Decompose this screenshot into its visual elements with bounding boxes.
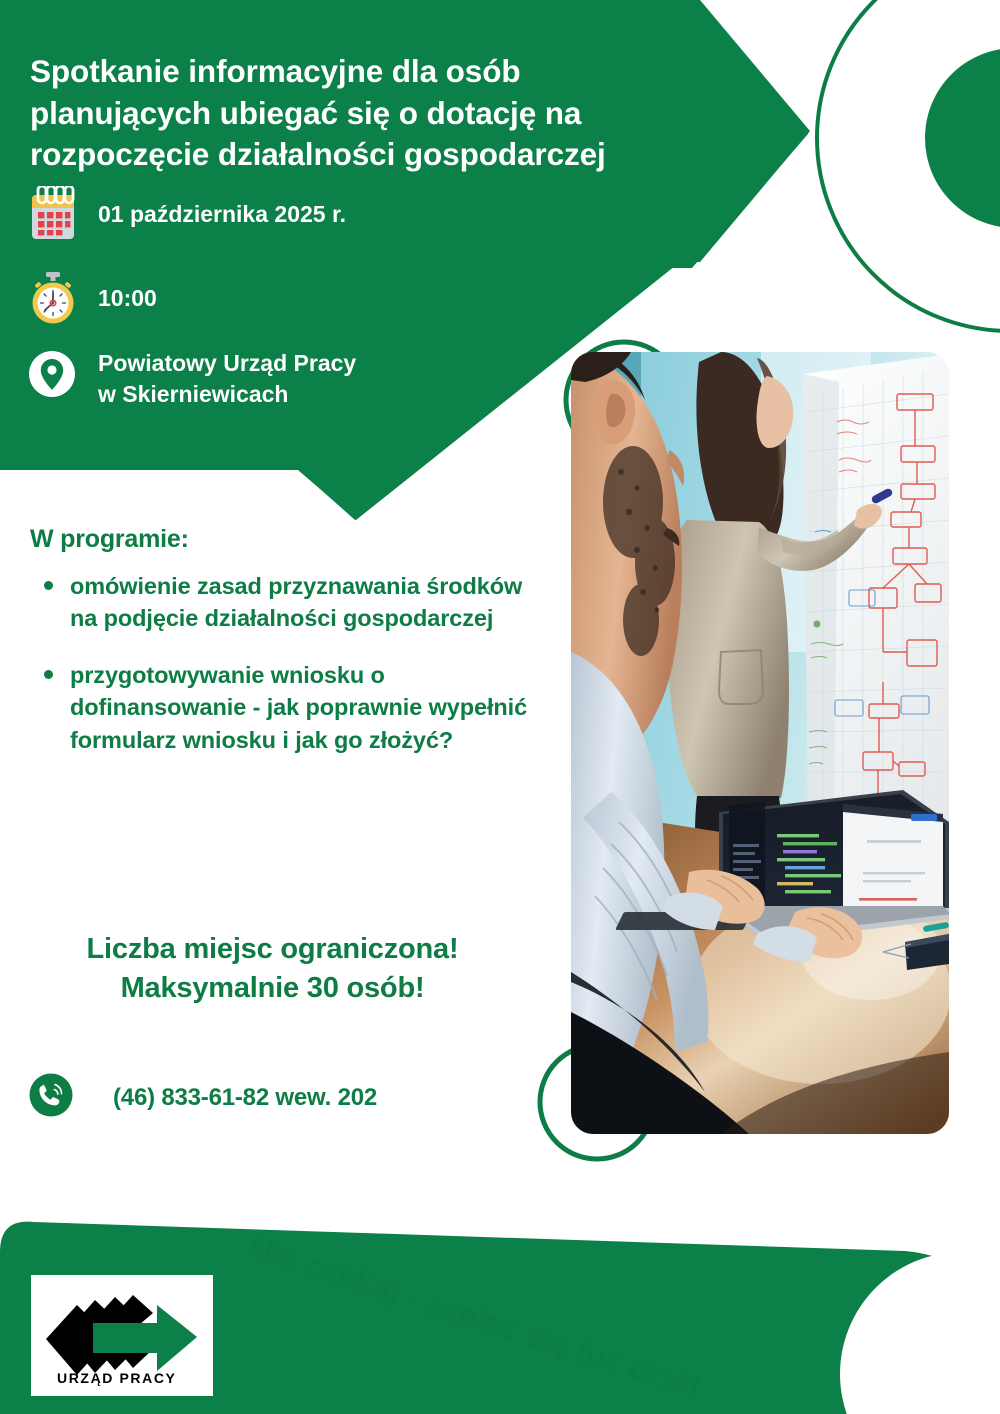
location-pin-icon <box>28 343 84 405</box>
bullet-dot-icon <box>44 670 53 679</box>
program-item-text: przygotowywanie wniosku o dofinansowanie… <box>70 662 527 753</box>
program-item: omówienie zasad przyznawania środków na … <box>70 570 540 635</box>
event-date-text: 01 października 2025 r. <box>84 183 346 230</box>
event-place-text: Powiatowy Urząd Pracy w Skierniewicach <box>84 343 356 410</box>
contact-row: (46) 833-61-82 wew. 202 <box>28 1072 377 1123</box>
event-place-row: Powiatowy Urząd Pracy w Skierniewicach <box>28 343 528 410</box>
event-details: 01 października 2025 r. <box>28 183 528 432</box>
event-date-row: 01 października 2025 r. <box>28 183 528 245</box>
program-item-text: omówienie zasad przyznawania środków na … <box>70 573 522 631</box>
calendar-icon <box>28 183 84 245</box>
phone-ring-icon <box>28 1072 74 1123</box>
program-list: omówienie zasad przyznawania środków na … <box>30 570 540 756</box>
urzad-pracy-logo: URZĄD PRACY <box>31 1275 213 1396</box>
program-item: przygotowywanie wniosku o dofinansowanie… <box>70 659 540 756</box>
logo-caption: URZĄD PRACY <box>57 1370 177 1386</box>
page-title: Spotkanie informacyjne dla osób planując… <box>30 51 680 176</box>
poster-root: Spotkanie informacyjne dla osób planując… <box>0 0 1000 1414</box>
program-heading: W programie: <box>30 525 540 554</box>
notch-bottom-right <box>840 1252 1000 1414</box>
footer-tagline: Nie czekaj - zapisz się już dziś! <box>244 1228 706 1406</box>
program-section: W programie: omówienie zasad przyznawani… <box>30 525 540 780</box>
event-time-row: 10:00 <box>28 267 528 329</box>
limited-seats-notice: Liczba miejsc ograniczona! Maksymalnie 3… <box>0 930 545 1007</box>
phone-number[interactable]: (46) 833-61-82 wew. 202 <box>113 1084 377 1112</box>
ring-top-right <box>817 0 1000 331</box>
bullet-dot-icon <box>44 581 53 590</box>
event-time-text: 10:00 <box>84 267 157 314</box>
dot-top-right <box>925 48 1000 228</box>
stopwatch-icon <box>28 267 84 329</box>
meeting-photo <box>571 352 949 1134</box>
